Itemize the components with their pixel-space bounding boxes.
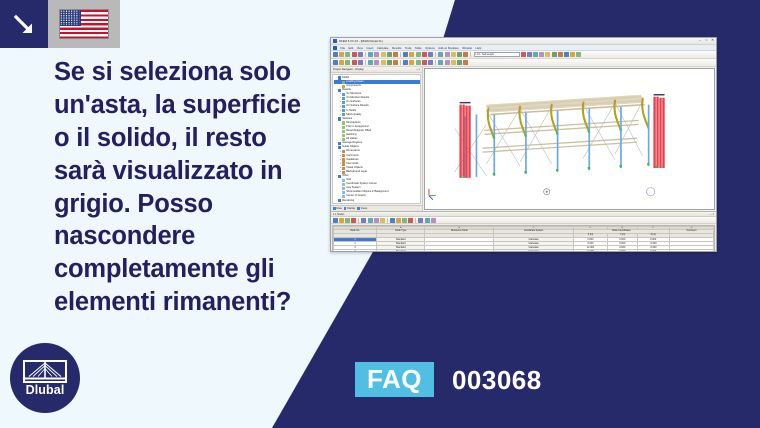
tree-item-label: Model bbox=[342, 77, 349, 80]
faq-tag: FAQ bbox=[355, 362, 434, 397]
tree-node-icon bbox=[342, 109, 345, 112]
maximize-button[interactable]: □ bbox=[705, 39, 707, 42]
toolbar-separator bbox=[365, 60, 366, 65]
tree-node-icon bbox=[342, 158, 345, 161]
table-icon[interactable] bbox=[527, 52, 532, 57]
cell-coord-x[interactable]: 12.000 bbox=[573, 249, 607, 252]
toolbar-separator bbox=[365, 52, 366, 57]
menu-app-icon bbox=[333, 46, 337, 50]
app-title: RFEM 5.XX.XX - [RFEM Model 01] bbox=[339, 39, 383, 43]
snap-icon[interactable] bbox=[393, 60, 398, 65]
save-icon[interactable] bbox=[345, 52, 350, 57]
tree-node-icon bbox=[342, 179, 345, 182]
app-titlebar: RFEM 5.XX.XX - [RFEM Model 01] – □ ✕ bbox=[331, 38, 716, 45]
minimize-button[interactable]: – bbox=[699, 39, 701, 42]
cell-coord-y[interactable]: 0.000 bbox=[608, 249, 637, 252]
dlubal-frame-icon bbox=[23, 360, 67, 383]
menu-item-help[interactable]: Help bbox=[476, 46, 482, 50]
app-toolbar-row-1[interactable]: LC1 - Self-weight bbox=[331, 51, 716, 59]
member-icon[interactable] bbox=[345, 60, 350, 65]
tree-node-icon bbox=[342, 150, 345, 153]
support-icon[interactable] bbox=[368, 60, 373, 65]
ortho-icon[interactable] bbox=[409, 60, 414, 65]
print-icon-2[interactable] bbox=[539, 52, 544, 57]
delete-row-icon[interactable] bbox=[339, 218, 344, 223]
zoom-window-icon[interactable] bbox=[416, 52, 421, 57]
replace-icon[interactable] bbox=[380, 218, 385, 223]
calculate-icon[interactable] bbox=[457, 52, 462, 57]
dlubal-logo[interactable]: Dlubal bbox=[10, 343, 80, 413]
paste-icon[interactable] bbox=[381, 52, 386, 57]
tree-node-icon bbox=[342, 105, 345, 108]
fx-icon[interactable] bbox=[521, 52, 526, 57]
node-icon[interactable] bbox=[333, 60, 338, 65]
tree-node-icon bbox=[342, 167, 345, 170]
tree-node-icon bbox=[338, 117, 341, 120]
rotate-handle-icon bbox=[646, 188, 654, 196]
tree-item-label: In Solids bbox=[346, 110, 356, 113]
view-gizmo-icon bbox=[544, 189, 550, 195]
navigator-tab-data[interactable]: Data bbox=[333, 207, 342, 210]
tree-node-icon bbox=[342, 134, 345, 137]
tree-node-icon bbox=[338, 146, 341, 149]
info-icon[interactable] bbox=[552, 52, 557, 57]
tree-node-icon bbox=[342, 81, 345, 84]
window-controls[interactable]: – □ ✕ bbox=[699, 39, 714, 42]
tree-node-icon bbox=[338, 199, 341, 202]
data-icon bbox=[333, 207, 336, 210]
structural-model-graphic bbox=[425, 69, 714, 210]
tree-node-icon bbox=[342, 195, 345, 198]
undo-icon[interactable] bbox=[387, 52, 392, 57]
tree-node-icon bbox=[342, 191, 345, 194]
cell-node-type[interactable]: Standard bbox=[377, 249, 425, 252]
cell-comment[interactable] bbox=[669, 249, 713, 252]
copy-icon[interactable] bbox=[374, 52, 379, 57]
navigator-tab-display[interactable]: Display bbox=[344, 207, 356, 210]
navigator-tabs[interactable]: DataDisplayViews bbox=[331, 205, 422, 211]
import-icon[interactable] bbox=[408, 218, 413, 223]
tree-node-icon bbox=[342, 203, 345, 204]
menu-item-edit[interactable]: Edit bbox=[349, 46, 354, 50]
copy-row-icon[interactable] bbox=[351, 218, 356, 223]
app-icon bbox=[333, 39, 337, 43]
tree-node-icon bbox=[338, 76, 341, 79]
faq-block: FAQ 003068 bbox=[355, 362, 542, 397]
faq-number: 003068 bbox=[452, 367, 542, 393]
comment-icon[interactable] bbox=[387, 60, 392, 65]
navigator-tree[interactable]: -ModelLoading CasesComponents-Results+On… bbox=[332, 74, 421, 204]
find-icon[interactable] bbox=[374, 218, 379, 223]
axis-icon[interactable] bbox=[564, 52, 569, 57]
tree-item-label: Guidelines bbox=[346, 159, 358, 162]
results-icon[interactable] bbox=[451, 52, 456, 57]
zoom-out-icon[interactable] bbox=[409, 52, 414, 57]
menu-item-results[interactable]: Results bbox=[392, 46, 401, 50]
shade-icon[interactable] bbox=[576, 52, 581, 57]
surface-icon[interactable] bbox=[352, 60, 357, 65]
axis-triad-icon bbox=[429, 189, 436, 200]
question-text: Se si seleziona solo un'asta, la superfi… bbox=[54, 56, 316, 319]
tree-node-icon bbox=[342, 97, 345, 100]
toolbar-separator bbox=[400, 60, 401, 65]
navigator-title: Project Navigator - Display bbox=[333, 68, 364, 71]
load-case-select[interactable]: LC1 - Self-weight bbox=[474, 52, 520, 57]
wireframe-icon[interactable] bbox=[438, 52, 443, 57]
print-preview-icon[interactable] bbox=[358, 52, 363, 57]
toolbar-separator bbox=[470, 52, 471, 57]
paste-icon[interactable] bbox=[368, 218, 373, 223]
view-top-icon[interactable] bbox=[428, 60, 433, 65]
menu-item-calculate[interactable]: Calculate bbox=[377, 46, 389, 50]
tree-item-label: Center of Gravity bbox=[346, 195, 366, 198]
redo-icon[interactable] bbox=[393, 52, 398, 57]
tree-node-icon bbox=[338, 175, 341, 178]
tree-item-label: Dimensions bbox=[346, 150, 360, 153]
tree-node-icon bbox=[342, 183, 345, 186]
menu-item-insert[interactable]: Insert bbox=[366, 46, 373, 50]
load-icon[interactable] bbox=[374, 60, 379, 65]
toolbar-separator bbox=[435, 60, 436, 65]
grid-icon[interactable] bbox=[403, 60, 408, 65]
cell-reference-node[interactable] bbox=[425, 249, 494, 252]
model-viewport[interactable] bbox=[424, 68, 715, 210]
display-icon bbox=[344, 207, 347, 210]
new-row-icon[interactable] bbox=[333, 218, 338, 223]
navigator-tab-label: Views bbox=[361, 207, 368, 210]
zoom-all-icon[interactable] bbox=[422, 52, 427, 57]
tree-item-label: On Surface Results bbox=[346, 105, 369, 108]
new-icon[interactable] bbox=[333, 52, 338, 57]
us-flag-icon[interactable] bbox=[48, 0, 120, 48]
print-icon[interactable] bbox=[352, 52, 357, 57]
navigator-tab-views[interactable]: Views bbox=[357, 207, 367, 210]
solid-icon[interactable] bbox=[445, 52, 450, 57]
layers-icon[interactable] bbox=[463, 60, 468, 65]
tree-item-label: Comments bbox=[346, 155, 359, 158]
tree-item-label: Sections bbox=[342, 118, 352, 121]
display-properties-icon[interactable] bbox=[451, 60, 456, 65]
print-table-icon[interactable] bbox=[418, 218, 423, 223]
menu-item-window[interactable]: Window bbox=[462, 46, 472, 50]
help-icon[interactable] bbox=[431, 218, 436, 223]
project-navigator-panel: Project Navigator - Display ⌐ × -ModelLo… bbox=[331, 67, 423, 211]
open-icon[interactable] bbox=[339, 52, 344, 57]
tree-node-icon bbox=[342, 101, 345, 104]
object-snap-icon[interactable] bbox=[416, 60, 421, 65]
view-front-icon[interactable] bbox=[422, 60, 427, 65]
visibility-icon[interactable] bbox=[457, 60, 462, 65]
arrow-down-right-icon[interactable] bbox=[0, 0, 48, 48]
tree-node-icon bbox=[342, 162, 345, 165]
sort-icon[interactable] bbox=[396, 218, 401, 223]
zoom-in-icon[interactable] bbox=[403, 52, 408, 57]
navigator-controls[interactable]: ⌐ × bbox=[416, 68, 420, 71]
views-icon bbox=[357, 207, 360, 210]
table-panel: 1.1 Nodes ⌐ × ABCDEFG Node No.Node TypeR… bbox=[331, 211, 716, 252]
color-icon[interactable] bbox=[570, 52, 575, 57]
table-toolbar[interactable] bbox=[331, 217, 716, 224]
insert-row-icon[interactable] bbox=[345, 218, 350, 223]
menu-item-tools[interactable]: Tools bbox=[405, 46, 412, 50]
menu-item-options[interactable]: Options bbox=[425, 46, 435, 50]
toolbar-separator bbox=[435, 52, 436, 57]
nodes-grid[interactable]: ABCDEFG Node No.Node TypeReference NodeC… bbox=[332, 225, 715, 253]
line-icon[interactable] bbox=[339, 60, 344, 65]
tree-node-icon bbox=[342, 93, 345, 96]
settings-table-icon[interactable] bbox=[425, 218, 430, 223]
graph-icon[interactable] bbox=[533, 52, 538, 57]
app-body: Project Navigator - Display ⌐ × -ModelLo… bbox=[331, 67, 716, 211]
tree-item-label: Descriptions bbox=[346, 122, 360, 125]
navigator-tab-label: Data bbox=[336, 207, 341, 210]
navigator-tab-label: Display bbox=[347, 207, 355, 210]
view-side-icon[interactable] bbox=[438, 60, 443, 65]
tree-node-icon bbox=[342, 130, 345, 133]
cut-icon[interactable] bbox=[368, 52, 373, 57]
navigator-header: Project Navigator - Display ⌐ × bbox=[331, 67, 422, 73]
export-excel-icon[interactable] bbox=[402, 218, 407, 223]
tree-item-label: User Grids bbox=[346, 163, 358, 166]
cell-coord-z[interactable]: 0.000 bbox=[637, 249, 669, 252]
dimension-icon[interactable] bbox=[381, 60, 386, 65]
tree-item-nodes[interactable]: Nodes bbox=[334, 203, 420, 204]
view-iso-icon[interactable] bbox=[445, 60, 450, 65]
menu-item-table[interactable]: Table bbox=[415, 46, 422, 50]
table-toolbar-separator bbox=[387, 218, 388, 223]
table-panel-title: 1.1 Nodes bbox=[333, 213, 344, 216]
grid-body: 1StandardCartesian0.0000.0000.0002Standa… bbox=[334, 237, 714, 252]
slide-canvas: Se si seleziona solo un'asta, la superfi… bbox=[0, 0, 760, 428]
tree-item-label: Background Layer bbox=[346, 171, 367, 174]
tree-item-label: Rendering bbox=[342, 200, 354, 203]
filter-icon[interactable] bbox=[390, 218, 395, 223]
tree-node-icon bbox=[342, 121, 345, 124]
table-panel-controls[interactable]: ⌐ × bbox=[710, 213, 714, 216]
tree-node-icon bbox=[342, 126, 345, 129]
render-icon[interactable] bbox=[428, 52, 433, 57]
cell-coordinate-system[interactable]: Cartesian bbox=[494, 249, 573, 252]
toolbar-separator bbox=[400, 52, 401, 57]
menu-item-view[interactable]: View bbox=[357, 46, 363, 50]
rfem-application-window: RFEM 5.XX.XX - [RFEM Model 01] – □ ✕ Fil… bbox=[330, 37, 717, 252]
table-toolbar-separator bbox=[358, 218, 359, 223]
topbar-icons bbox=[0, 0, 120, 48]
settings-icon[interactable] bbox=[463, 52, 468, 57]
cut-icon[interactable] bbox=[361, 218, 366, 223]
tree-node-icon bbox=[342, 154, 345, 157]
table-row[interactable]: 4StandardCartesian12.0000.0000.000 bbox=[334, 249, 714, 252]
table-toolbar-separator bbox=[415, 218, 416, 223]
tree-node-icon bbox=[338, 142, 341, 145]
dlubal-wordmark: Dlubal bbox=[26, 384, 65, 397]
help-icon[interactable] bbox=[545, 52, 550, 57]
nodes-table: ABCDEFG Node No.Node TypeReference NodeC… bbox=[333, 226, 714, 253]
cell-row-number[interactable]: 4 bbox=[334, 249, 377, 252]
solid-icon-2[interactable] bbox=[358, 60, 363, 65]
grid-icon-2[interactable] bbox=[558, 52, 563, 57]
tree-item-label: Mesh Quality bbox=[346, 114, 361, 117]
menu-item-add-on-modules[interactable]: Add-on Modules bbox=[438, 46, 458, 50]
menu-item-file[interactable]: File bbox=[341, 46, 346, 50]
flag-graphic bbox=[59, 9, 109, 39]
tree-node-icon bbox=[342, 187, 345, 190]
app-toolbar-row-2[interactable] bbox=[331, 59, 716, 67]
close-button[interactable]: ✕ bbox=[711, 39, 714, 42]
